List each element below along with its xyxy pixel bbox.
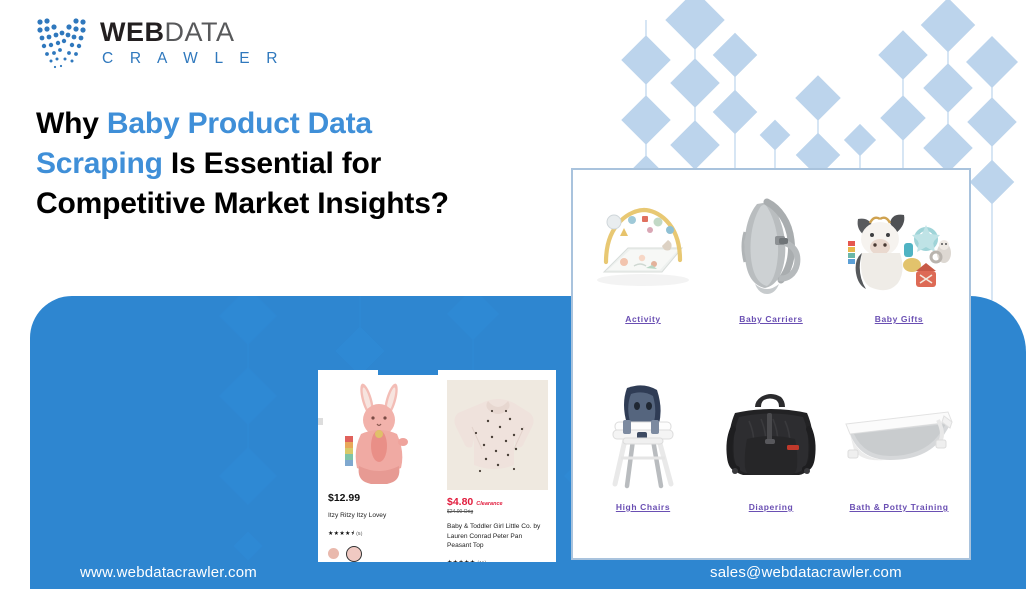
category-grid: Activity Baby Carriers <box>573 170 969 558</box>
logo-wordmark: WEBDATA <box>100 19 284 46</box>
product-title-2[interactable]: Baby & Toddler Girl Little Co. by Lauren… <box>447 522 548 551</box>
product-color-swatches-1[interactable] <box>328 546 429 562</box>
category-cell-activity[interactable]: Activity <box>579 178 707 366</box>
category-cell-baby-gifts[interactable]: Baby Gifts <box>835 178 963 366</box>
high-chair-icon <box>593 376 693 494</box>
baby-bathtub-icon <box>840 376 958 494</box>
logo-data-text: DATA <box>165 17 235 47</box>
product-sale-price-2: $4.80 <box>447 496 473 508</box>
rating-stars-1: ★★★★⯨ <box>328 529 354 539</box>
rating-count-2: (11) <box>477 560 486 562</box>
product-rating-1: ★★★★⯨ (5) <box>328 529 429 539</box>
product-original-price-2: $24.00 Orig <box>447 509 548 515</box>
pink-floral-top-icon <box>447 380 548 490</box>
product-card-2[interactable]: $4.80Clearance $24.00 Orig Baby & Toddle… <box>437 376 556 562</box>
category-cell-bath-potty[interactable]: Bath & Potty Training <box>835 366 963 554</box>
logo-crawler-text: C R A W L E R <box>102 51 284 67</box>
baby-carrier-icon <box>721 188 821 306</box>
category-link-bath-potty[interactable]: Bath & Potty Training <box>849 502 948 513</box>
category-link-diapering[interactable]: Diapering <box>749 502 794 513</box>
logo-web-text: WEB <box>100 17 165 47</box>
panel-top-accent-bar <box>378 370 438 375</box>
headline-part-1: Why <box>36 107 107 140</box>
product-listing-panel: $12.99 Itzy Ritzy Itzy Lovey ★★★★⯨ (5) <box>318 370 556 562</box>
category-cell-diapering[interactable]: Diapering <box>707 366 835 554</box>
product-rating-2: ★★★★★ (11) <box>447 559 548 562</box>
category-link-baby-carriers[interactable]: Baby Carriers <box>739 314 803 325</box>
footer-website-url[interactable]: www.webdatacrawler.com <box>80 564 257 581</box>
category-cell-baby-carriers[interactable]: Baby Carriers <box>707 178 835 366</box>
slide-canvas: WEBDATA C R A W L E R Why Baby Product D… <box>0 0 1026 589</box>
color-swatch-option-1[interactable] <box>328 548 339 559</box>
brand-logo: WEBDATA C R A W L E R <box>34 14 284 72</box>
diaper-bag-icon <box>719 376 824 494</box>
product-price-2: $4.80Clearance <box>447 496 548 508</box>
rating-count-1: (5) <box>356 531 363 536</box>
category-cell-high-chairs[interactable]: High Chairs <box>579 366 707 554</box>
product-title-1[interactable]: Itzy Ritzy Itzy Lovey <box>328 511 429 521</box>
page-title: Why Baby Product Data Scraping Is Essent… <box>36 104 466 224</box>
baby-play-gym-icon <box>584 188 702 306</box>
color-swatch-option-2[interactable] <box>346 546 362 562</box>
dotted-w-logo-icon <box>34 14 90 72</box>
product-grid: $12.99 Itzy Ritzy Itzy Lovey ★★★★⯨ (5) <box>318 376 556 562</box>
category-link-high-chairs[interactable]: High Chairs <box>616 502 670 513</box>
product-clearance-badge-2: Clearance <box>476 501 502 507</box>
pink-bunny-plush-icon <box>328 380 429 486</box>
plush-cow-toy-icon <box>840 188 958 306</box>
product-price-1: $12.99 <box>328 492 429 504</box>
category-link-baby-gifts[interactable]: Baby Gifts <box>875 314 924 325</box>
category-link-activity[interactable]: Activity <box>625 314 661 325</box>
product-card-1[interactable]: $12.99 Itzy Ritzy Itzy Lovey ★★★★⯨ (5) <box>318 376 437 562</box>
rating-stars-2: ★★★★★ <box>447 559 475 562</box>
footer-email-address[interactable]: sales@webdatacrawler.com <box>710 564 902 581</box>
category-screenshot-panel: Activity Baby Carriers <box>571 168 971 560</box>
